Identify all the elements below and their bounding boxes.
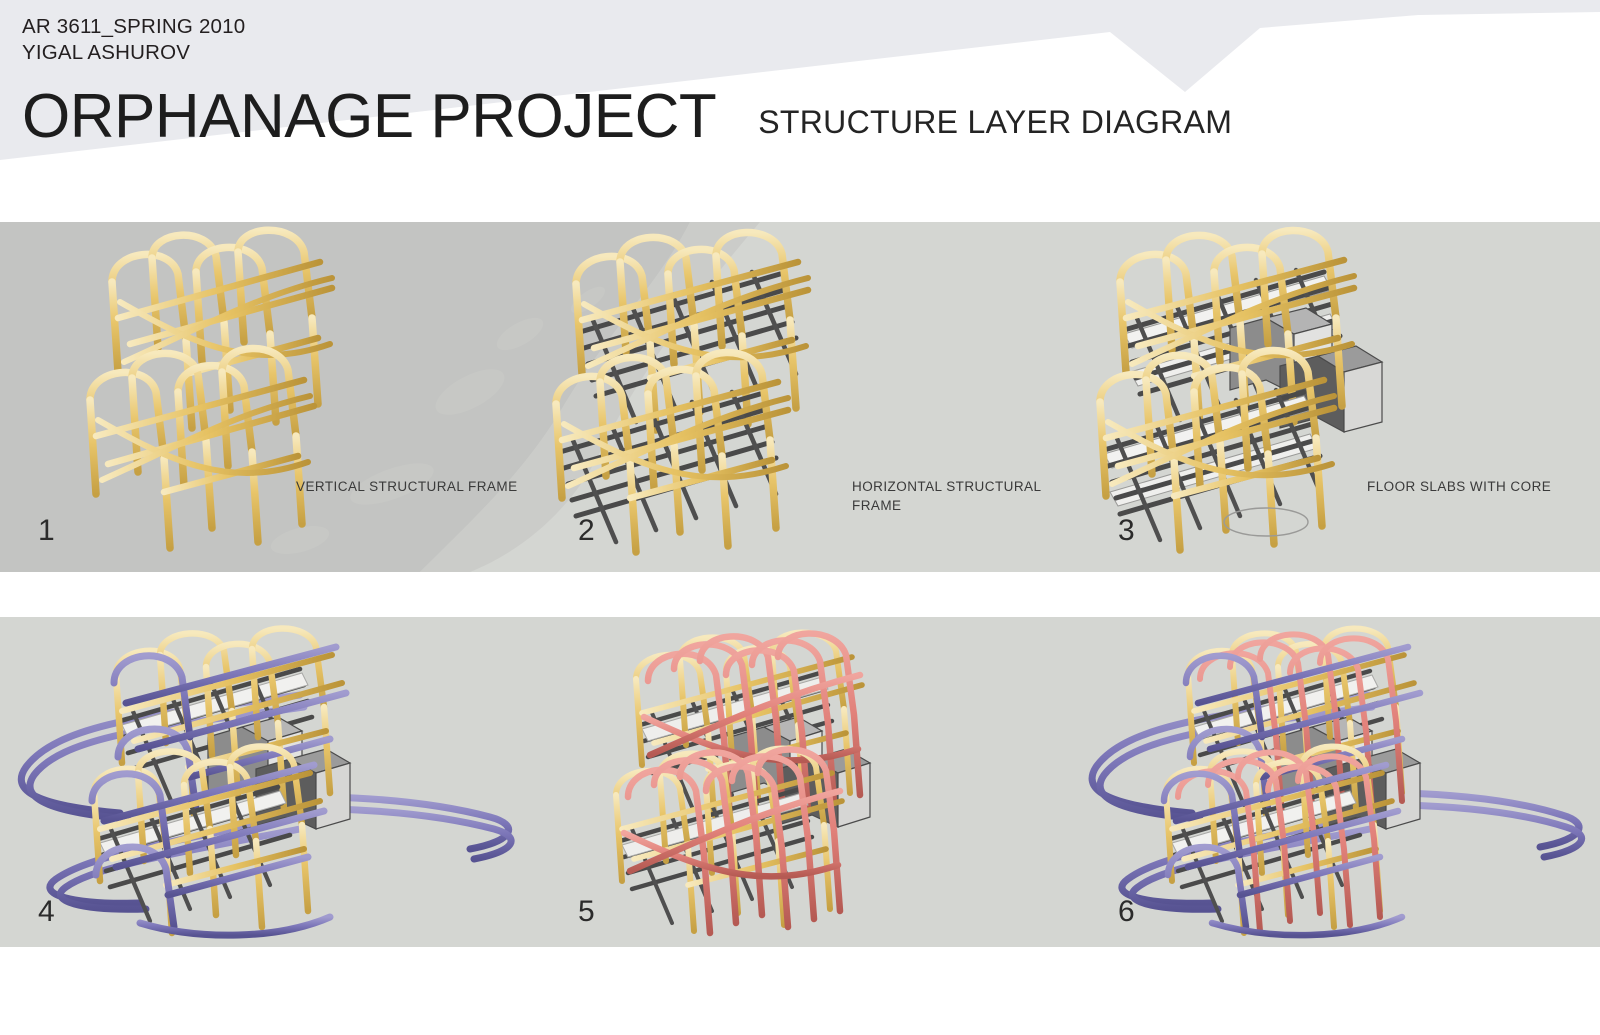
author-name: YIGAL ASHUROV — [22, 40, 1232, 66]
diagram-panel-6: 6 — [1080, 617, 1600, 947]
diagram-panel-4: 4 — [0, 617, 540, 947]
project-title: ORPHANAGE PROJECT — [22, 84, 716, 150]
diagram-panel-1: 1 — [0, 222, 540, 572]
diagram-panel-2: 2 — [540, 222, 1080, 572]
figure-floor-slabs-with-core — [1080, 222, 1600, 572]
step-number-6: 6 — [1118, 897, 1135, 927]
figure-complete-product — [1080, 617, 1600, 947]
diagram-subtitle: STRUCTURE LAYER DIAGRAM — [758, 104, 1232, 141]
step-number-4: 4 — [38, 897, 55, 927]
figure-horizontal-structural-frame — [540, 222, 1080, 572]
figure-vertical-structural-frame — [0, 222, 540, 572]
step-number-3: 3 — [1118, 516, 1135, 546]
presentation-board: AR 3611_SPRING 2010 YIGAL ASHUROV ORPHAN… — [0, 0, 1600, 1035]
figure-horizontal-weave — [0, 617, 540, 947]
board-header: AR 3611_SPRING 2010 YIGAL ASHUROV ORPHAN… — [0, 0, 1600, 222]
diagram-row-bottom: 4 — [0, 617, 1600, 947]
step-label-2: HORIZONTAL STRUCTURAL FRAME — [852, 477, 1041, 515]
diagram-panel-3: 3 — [1080, 222, 1600, 572]
step-label-1: VERTICAL STRUCTURAL FRAME — [296, 477, 518, 496]
step-number-2: 2 — [578, 516, 595, 546]
figure-vertical-weave — [540, 617, 1080, 947]
step-number-1: 1 — [38, 516, 55, 546]
step-label-3: FLOOR SLABS WITH CORE — [1367, 477, 1551, 496]
diagram-row-top: 1 — [0, 222, 1600, 572]
step-number-5: 5 — [578, 897, 595, 927]
course-code: AR 3611_SPRING 2010 — [22, 14, 1232, 40]
diagram-panel-5: 5 — [540, 617, 1080, 947]
